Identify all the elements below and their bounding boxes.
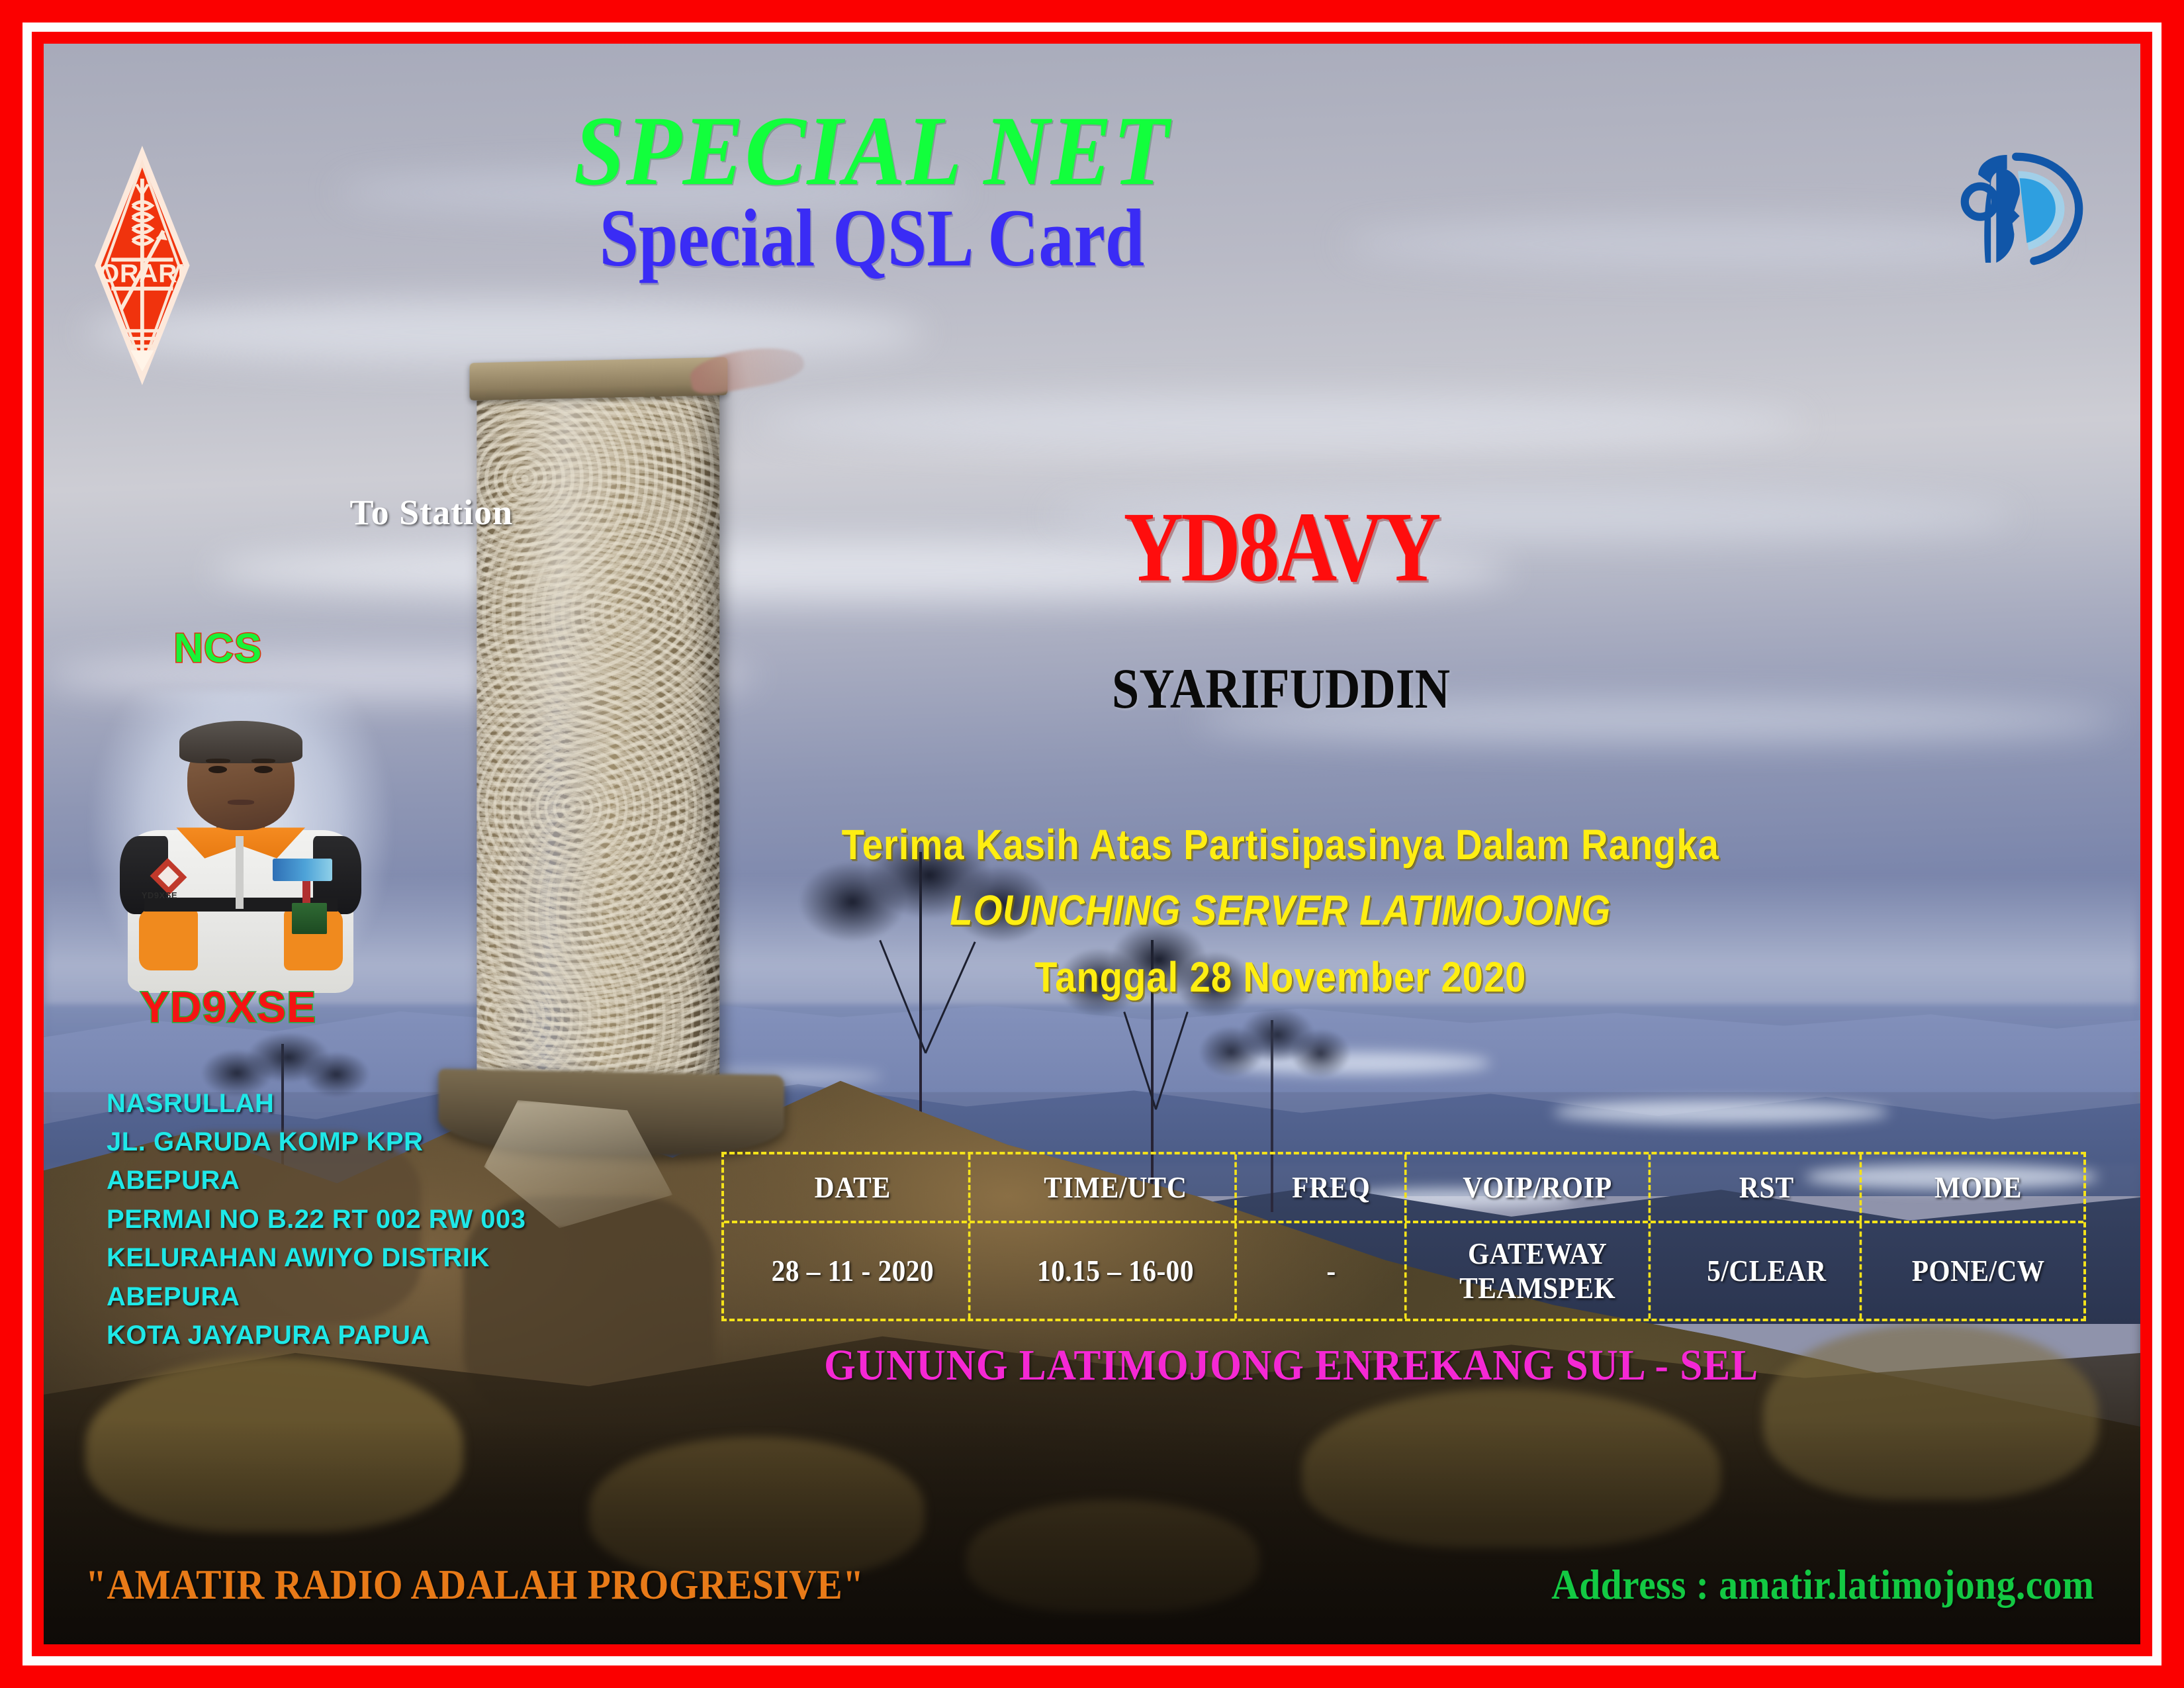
ncs-operator-photo: YD9XSE — [107, 713, 375, 993]
photo-placket — [236, 836, 244, 909]
column-header-rst: RST — [1674, 1154, 1862, 1221]
photo-sleeve-left — [139, 909, 198, 970]
photo-mouth — [228, 800, 255, 805]
address-line: KOTA JAYAPURA PAPUA — [107, 1316, 525, 1354]
cell-date: 28 – 11 - 2020 — [737, 1223, 971, 1319]
event-location: GUNUNG LATIMOJONG ENREKANG SUL - SEL — [687, 1340, 1896, 1391]
page-subtitle: Special QSL Card — [331, 197, 1413, 279]
cell-voip-line2: TEAMSPEK — [1460, 1271, 1616, 1305]
photo-chest-logo-patch — [273, 859, 332, 881]
cell-rst: 5/CLEAR — [1674, 1223, 1862, 1319]
address-line: JL. GARUDA KOMP KPR — [107, 1123, 525, 1161]
photo-hair — [179, 721, 303, 763]
footer-address: Address : amatir.latimojong.com — [1551, 1560, 2094, 1609]
address-line: PERMAI NO B.22 RT 002 RW 003 — [107, 1200, 525, 1239]
ncs-callsign: YD9XSE — [140, 982, 316, 1032]
photo-eyebrow — [206, 759, 230, 763]
address-line: ABEPURA — [107, 1161, 525, 1199]
operator-name: SYARIFUDDIN — [974, 660, 1587, 717]
cell-mode: PONE/CW — [1884, 1223, 2073, 1319]
to-station-label: To Station — [350, 492, 514, 533]
column-header-time: TIME/UTC — [997, 1154, 1236, 1221]
photo-id-card — [292, 903, 327, 934]
event-name: LOUNCHING SERVER LATIMOJONG — [801, 886, 1760, 935]
qsl-card-inner-border: ORARI — [32, 32, 2152, 1656]
orari-logo: ORARI — [94, 85, 191, 445]
cell-time: 10.15 – 16-00 — [997, 1223, 1236, 1319]
column-header-mode: MODE — [1884, 1154, 2073, 1221]
column-header-voip: VOIP/ROIP — [1427, 1154, 1651, 1221]
event-date: Tanggal 28 November 2020 — [801, 953, 1760, 1002]
table-header-row: DATE TIME/UTC FREQ VOIP/ROIP RST MODE — [724, 1154, 2083, 1223]
column-header-freq: FREQ — [1258, 1154, 1406, 1221]
table-row: 28 – 11 - 2020 10.15 – 16-00 - GATEWAY T… — [724, 1223, 2083, 1319]
photo-shirt-callsign: YD9XSE — [142, 890, 177, 900]
station-callsign: YD8AVY — [931, 497, 1630, 597]
qsl-card-outer-border: ORARI — [0, 0, 2184, 1688]
address-line: ABEPURA — [107, 1278, 525, 1316]
radio-listener-logo — [1960, 82, 2086, 330]
thanks-message: Terima Kasih Atas Partisipasinya Dalam R… — [801, 820, 1760, 869]
cell-voip-line1: GATEWAY — [1468, 1237, 1607, 1270]
photo-lanyard — [302, 881, 310, 906]
svg-text:ORARI: ORARI — [99, 259, 185, 288]
cell-voip: GATEWAY TEAMSPEK — [1427, 1223, 1651, 1319]
ncs-label: NCS — [173, 625, 262, 672]
return-address-block: NASRULLAH JL. GARUDA KOMP KPR ABEPURA PE… — [107, 1084, 525, 1355]
address-line: KELURAHAN AWIYO DISTRIK — [107, 1239, 525, 1277]
page-title: SPECIAL NET — [293, 101, 1451, 201]
column-header-date: DATE — [737, 1154, 971, 1221]
address-line: NASRULLAH — [107, 1084, 525, 1123]
qsl-card-background-photo: ORARI — [44, 44, 2140, 1644]
qsl-card-white-gap: ORARI — [23, 23, 2161, 1665]
cell-freq: - — [1258, 1223, 1406, 1319]
footer-slogan: "AMATIR RADIO ADALAH PROGRESIVE" — [85, 1560, 864, 1609]
qso-log-table: DATE TIME/UTC FREQ VOIP/ROIP RST MODE 28… — [721, 1152, 2086, 1321]
photo-eyebrow — [251, 759, 275, 763]
